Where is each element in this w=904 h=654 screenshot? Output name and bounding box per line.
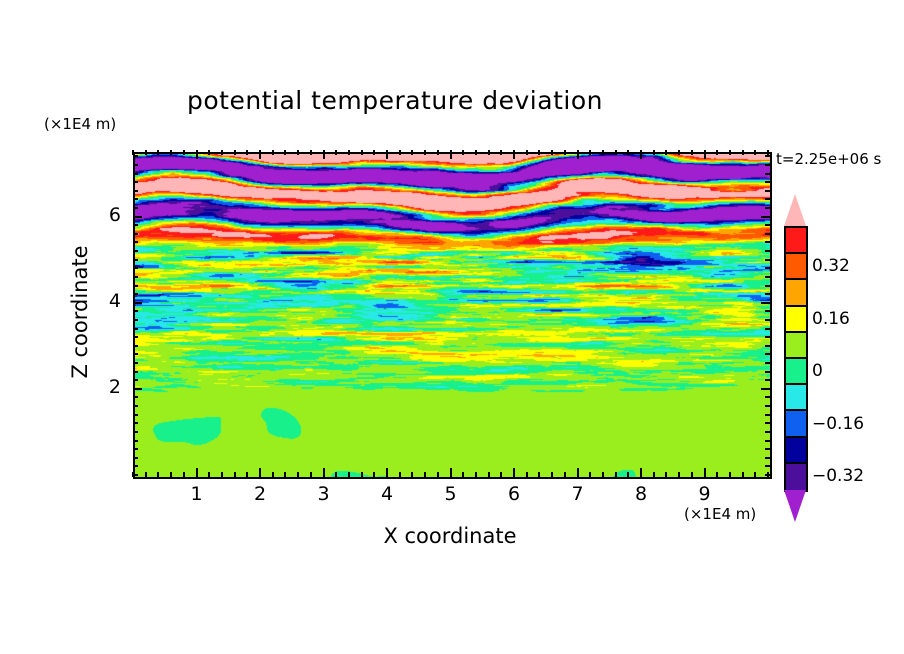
- y-tick: [765, 285, 770, 287]
- y-tick: [133, 293, 138, 295]
- x-tick: [538, 150, 540, 155]
- y-tick: [133, 414, 138, 416]
- colorbar-band-9: [786, 464, 806, 490]
- colorbar-over-cap: [784, 194, 806, 226]
- x-tick: [653, 472, 655, 477]
- y-tick: [765, 396, 770, 398]
- y-tick: [133, 224, 138, 226]
- x-tick: [246, 472, 248, 477]
- x-tick: [361, 472, 363, 477]
- x-tick-label-1: 1: [177, 483, 217, 505]
- y-tick: [133, 164, 138, 166]
- colorbar-band-1: [786, 254, 806, 280]
- x-tick: [500, 472, 502, 477]
- x-tick: [424, 472, 426, 477]
- y-tick: [133, 155, 138, 157]
- temperature-deviation-field: [135, 154, 770, 477]
- y-tick: [765, 448, 770, 450]
- x-tick: [437, 150, 439, 155]
- y-tick: [765, 233, 770, 235]
- x-tick: [602, 150, 604, 155]
- x-tick: [577, 150, 579, 159]
- y-tick: [765, 173, 770, 175]
- colorbar-band-2: [786, 280, 806, 306]
- colorbar-band-3: [786, 307, 806, 333]
- x-tick: [323, 468, 325, 477]
- x-tick: [221, 472, 223, 477]
- y-tick: [765, 310, 770, 312]
- y-tick: [133, 233, 138, 235]
- x-tick: [208, 472, 210, 477]
- colorbar-band-8: [786, 438, 806, 464]
- x-tick: [640, 150, 642, 159]
- x-tick: [729, 150, 731, 155]
- x-tick: [551, 472, 553, 477]
- y-tick: [761, 216, 770, 218]
- y-tick: [133, 173, 138, 175]
- x-tick: [386, 468, 388, 477]
- x-tick: [462, 472, 464, 477]
- x-tick: [665, 150, 667, 155]
- colorbar-tick-label-3: −0.16: [812, 414, 864, 434]
- y-tick: [133, 388, 142, 390]
- x-tick: [665, 472, 667, 477]
- y-tick: [133, 474, 138, 476]
- x-tick: [437, 472, 439, 477]
- x-tick: [386, 150, 388, 159]
- colorbar-tick-label-0: 0.32: [812, 256, 850, 276]
- x-tick: [526, 150, 528, 155]
- y-tick: [765, 414, 770, 416]
- y-tick: [765, 190, 770, 192]
- x-tick: [335, 472, 337, 477]
- timestamp-annotation: t=2.25e+06 s: [776, 150, 881, 168]
- x-tick: [627, 472, 629, 477]
- y-tick: [765, 319, 770, 321]
- x-tick: [716, 472, 718, 477]
- y-tick: [765, 198, 770, 200]
- x-tick: [411, 472, 413, 477]
- y-tick: [133, 207, 138, 209]
- x-tick: [310, 472, 312, 477]
- y-tick: [765, 362, 770, 364]
- y-tick: [133, 267, 138, 269]
- x-tick: [234, 150, 236, 155]
- x-tick: [488, 472, 490, 477]
- x-tick-label-4: 4: [367, 483, 407, 505]
- x-tick: [640, 468, 642, 477]
- x-tick: [284, 150, 286, 155]
- x-tick: [246, 150, 248, 155]
- colorbar-band-5: [786, 359, 806, 385]
- x-tick: [310, 150, 312, 155]
- x-tick: [335, 150, 337, 155]
- x-tick: [157, 472, 159, 477]
- y-tick: [133, 302, 142, 304]
- y-tick: [765, 259, 770, 261]
- colorbar-band-0: [786, 228, 806, 254]
- page-title: potential temperature deviation: [0, 86, 790, 115]
- x-tick: [589, 472, 591, 477]
- y-tick: [765, 379, 770, 381]
- y-tick: [133, 405, 138, 407]
- x-tick: [564, 150, 566, 155]
- x-axis-title: X coordinate: [250, 524, 650, 548]
- x-tick: [462, 150, 464, 155]
- x-tick: [551, 150, 553, 155]
- x-tick: [615, 472, 617, 477]
- contour-plot-area: [133, 152, 772, 479]
- x-tick: [500, 150, 502, 155]
- y-tick: [765, 422, 770, 424]
- colorbar-tick-label-1: 0.16: [812, 309, 850, 329]
- y-tick: [133, 276, 138, 278]
- x-tick: [704, 468, 706, 477]
- x-tick: [513, 468, 515, 477]
- x-tick: [284, 472, 286, 477]
- x-tick: [170, 472, 172, 477]
- y-tick-label-2: 2: [81, 376, 121, 398]
- x-tick: [589, 150, 591, 155]
- y-tick: [765, 164, 770, 166]
- x-tick: [754, 472, 756, 477]
- x-tick: [348, 472, 350, 477]
- x-tick-label-8: 8: [621, 483, 661, 505]
- y-tick: [761, 302, 770, 304]
- x-tick: [450, 468, 452, 477]
- y-tick: [761, 388, 770, 390]
- colorbar-band-6: [786, 385, 806, 411]
- y-tick: [133, 181, 138, 183]
- x-tick: [475, 150, 477, 155]
- x-tick-label-5: 5: [431, 483, 471, 505]
- y-tick: [133, 345, 138, 347]
- y-tick: [133, 362, 138, 364]
- y-tick: [765, 405, 770, 407]
- x-tick: [196, 150, 198, 159]
- y-tick: [765, 293, 770, 295]
- y-tick: [133, 336, 138, 338]
- x-tick: [348, 150, 350, 155]
- y-tick: [133, 198, 138, 200]
- y-tick: [133, 379, 138, 381]
- z-axis-unit-label: (×1E4 m): [44, 115, 116, 133]
- y-tick: [133, 422, 138, 424]
- x-tick: [678, 150, 680, 155]
- y-tick: [765, 345, 770, 347]
- y-tick: [133, 465, 138, 467]
- y-tick: [765, 431, 770, 433]
- x-tick-label-6: 6: [494, 483, 534, 505]
- x-tick: [488, 150, 490, 155]
- x-tick: [424, 150, 426, 155]
- x-tick: [729, 472, 731, 477]
- y-tick: [765, 181, 770, 183]
- x-tick: [157, 150, 159, 155]
- x-axis-unit-label: (×1E4 m): [684, 505, 756, 523]
- y-tick: [133, 250, 138, 252]
- x-tick: [323, 150, 325, 159]
- x-tick-label-7: 7: [558, 483, 598, 505]
- y-tick: [133, 328, 138, 330]
- x-tick: [234, 472, 236, 477]
- y-tick: [765, 457, 770, 459]
- y-tick-label-6: 6: [81, 204, 121, 226]
- colorbar: [784, 226, 808, 492]
- y-tick: [765, 328, 770, 330]
- y-tick: [765, 465, 770, 467]
- y-tick: [133, 440, 138, 442]
- x-tick: [183, 150, 185, 155]
- y-tick: [765, 371, 770, 373]
- x-tick: [361, 150, 363, 155]
- y-tick: [765, 250, 770, 252]
- x-tick: [602, 472, 604, 477]
- x-tick: [259, 468, 261, 477]
- x-tick: [564, 472, 566, 477]
- x-tick: [678, 472, 680, 477]
- colorbar-band-4: [786, 333, 806, 359]
- x-tick: [411, 150, 413, 155]
- y-tick: [133, 259, 138, 261]
- x-tick: [742, 150, 744, 155]
- y-tick: [133, 319, 138, 321]
- x-tick: [272, 150, 274, 155]
- y-tick: [765, 336, 770, 338]
- x-tick: [526, 472, 528, 477]
- y-tick: [765, 207, 770, 209]
- y-tick: [133, 190, 138, 192]
- y-tick: [765, 155, 770, 157]
- y-tick: [765, 474, 770, 476]
- x-tick: [145, 472, 147, 477]
- x-tick: [297, 472, 299, 477]
- x-tick: [627, 150, 629, 155]
- y-tick: [765, 241, 770, 243]
- x-tick: [754, 150, 756, 155]
- x-tick: [170, 150, 172, 155]
- y-tick: [765, 440, 770, 442]
- x-tick: [259, 150, 261, 159]
- x-tick: [704, 150, 706, 159]
- x-tick: [208, 150, 210, 155]
- y-tick: [133, 371, 138, 373]
- x-tick: [145, 150, 147, 155]
- colorbar-tick-label-4: −0.32: [812, 466, 864, 486]
- y-tick: [133, 457, 138, 459]
- x-tick: [132, 150, 134, 155]
- y-tick: [765, 224, 770, 226]
- colorbar-band-7: [786, 411, 806, 437]
- y-tick: [133, 241, 138, 243]
- x-tick: [450, 150, 452, 159]
- y-tick: [133, 310, 138, 312]
- y-tick: [133, 448, 138, 450]
- y-tick: [765, 276, 770, 278]
- x-tick: [513, 150, 515, 159]
- x-tick: [691, 472, 693, 477]
- x-tick: [742, 472, 744, 477]
- x-tick: [475, 472, 477, 477]
- y-tick: [765, 353, 770, 355]
- x-tick: [691, 150, 693, 155]
- y-tick-label-4: 4: [81, 290, 121, 312]
- x-tick-label-9: 9: [685, 483, 725, 505]
- x-tick: [399, 472, 401, 477]
- x-tick: [297, 150, 299, 155]
- x-tick: [615, 150, 617, 155]
- x-tick: [716, 150, 718, 155]
- x-tick-label-3: 3: [304, 483, 344, 505]
- x-tick: [196, 468, 198, 477]
- x-tick-label-2: 2: [240, 483, 280, 505]
- x-tick: [373, 472, 375, 477]
- colorbar-under-cap: [784, 490, 806, 522]
- x-tick: [653, 150, 655, 155]
- y-tick: [133, 431, 138, 433]
- colorbar-tick-label-2: 0: [812, 361, 823, 381]
- y-tick: [765, 267, 770, 269]
- x-tick: [221, 150, 223, 155]
- y-tick: [133, 396, 138, 398]
- x-tick: [399, 150, 401, 155]
- y-tick: [133, 285, 138, 287]
- x-tick: [183, 472, 185, 477]
- x-tick: [538, 472, 540, 477]
- x-tick: [272, 472, 274, 477]
- y-tick: [133, 216, 142, 218]
- y-tick: [133, 353, 138, 355]
- x-tick: [767, 150, 769, 155]
- x-tick: [373, 150, 375, 155]
- x-tick: [577, 468, 579, 477]
